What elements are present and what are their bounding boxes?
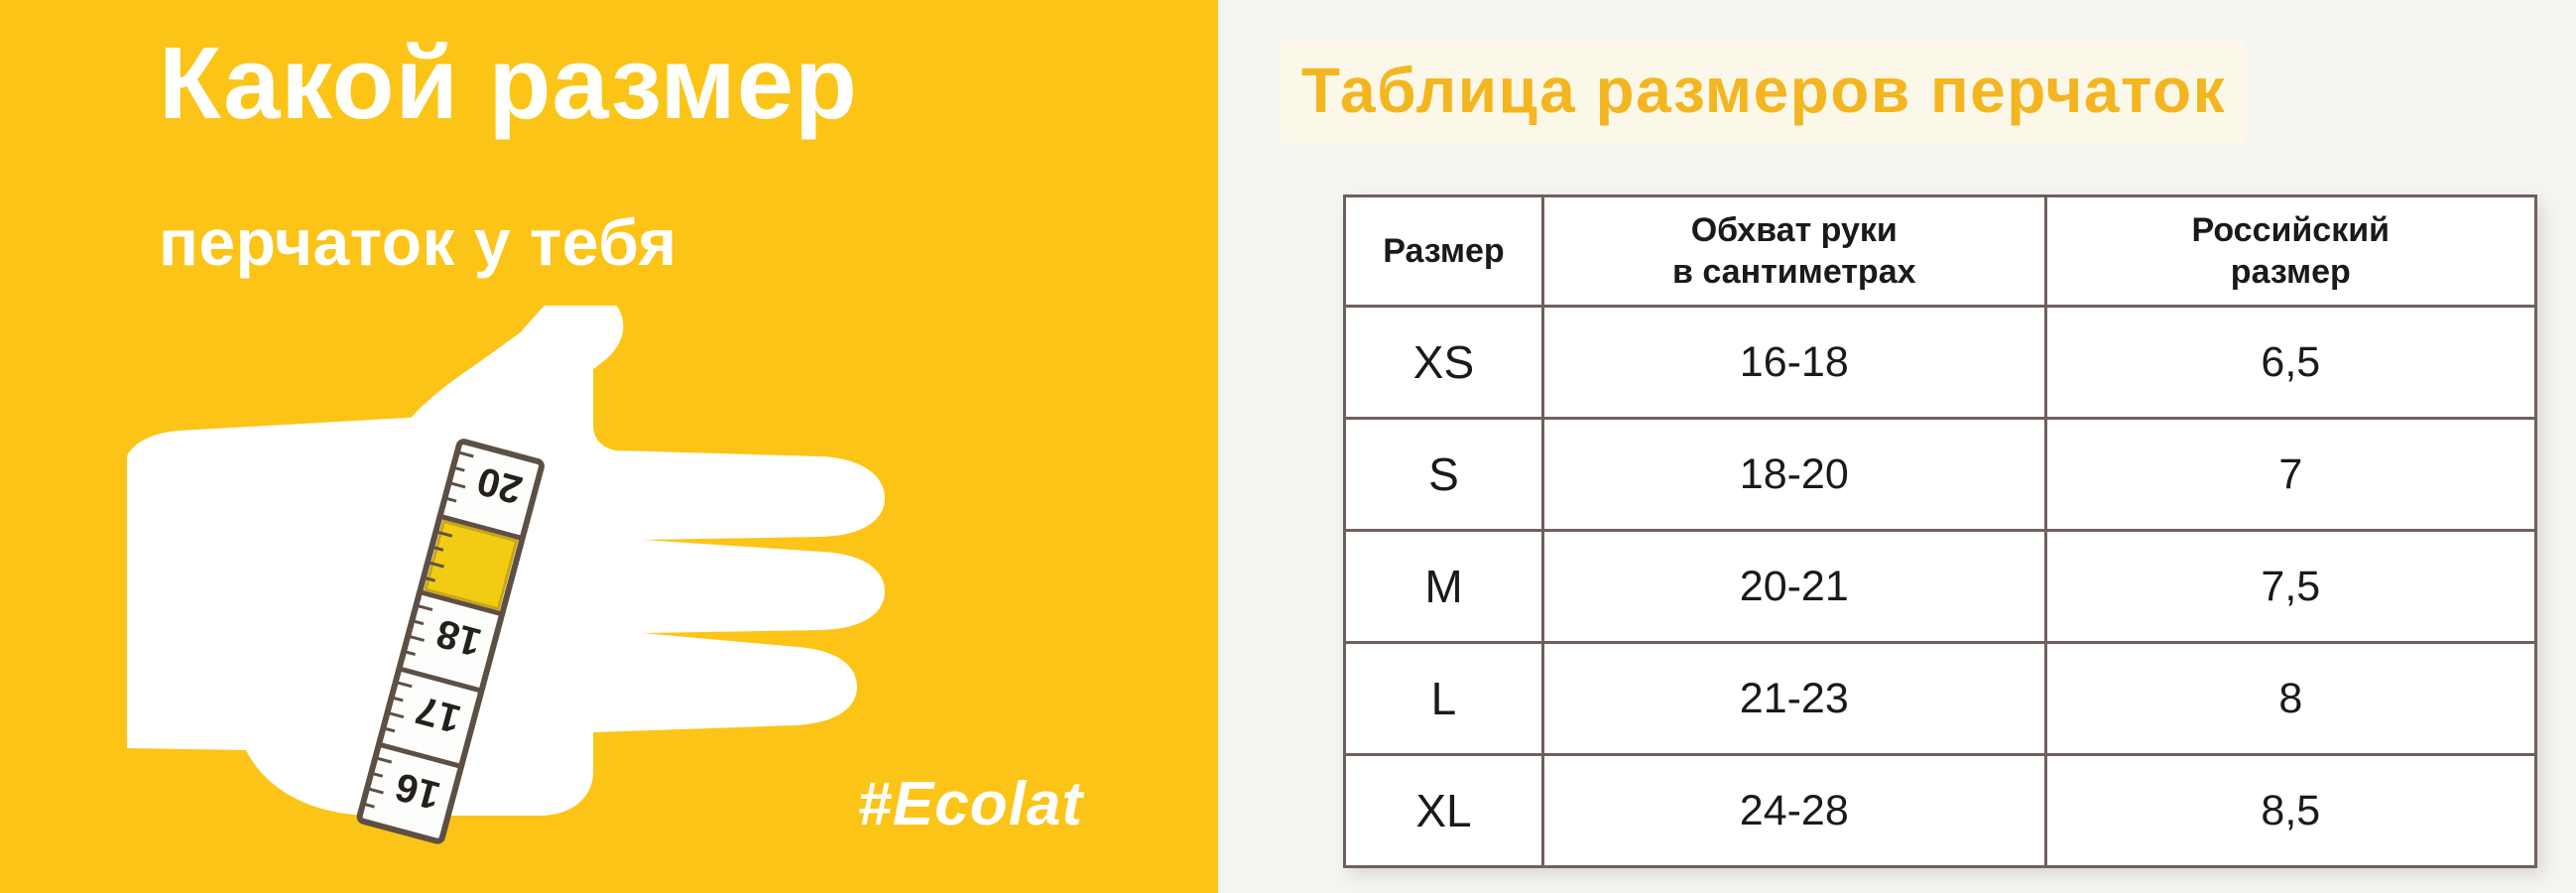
cell-circumference: 21-23 [1542,643,2045,755]
cell-ru-size: 7 [2045,419,2535,531]
right-table-panel: Таблица размеров перчаток Размер Обхват … [1218,0,2576,893]
cell-size: S [1345,419,1543,531]
cell-ru-size: 8,5 [2045,755,2535,867]
cell-size: XL [1345,755,1543,867]
cell-circumference: 20-21 [1542,531,2045,643]
left-yellow-panel: Какой размер перчаток у тебя [0,0,1218,893]
column-header-circumference: Обхват руки в сантиметрах [1542,196,2045,307]
cell-size: XS [1345,307,1543,419]
column-header-size: Размер [1345,196,1543,307]
table-header: Размер Обхват руки в сантиметрах Российс… [1345,196,2536,307]
cell-ru-size: 8 [2045,643,2535,755]
column-header-circumference-line1: Обхват руки [1544,209,2044,251]
page-title: Какой размер [159,28,1170,138]
cell-circumference: 24-28 [1542,755,2045,867]
cell-ru-size: 7,5 [2045,531,2535,643]
cell-ru-size: 6,5 [2045,307,2535,419]
column-header-size-line1: Размер [1346,230,1541,272]
column-header-ru-size-line2: размер [2047,251,2534,293]
page-subtitle: перчаток у тебя [159,206,1170,279]
table-row: L 21-23 8 [1345,643,2536,755]
table-title: Таблица размеров перчаток [1280,40,2248,145]
cell-size: L [1345,643,1543,755]
column-header-circumference-line2: в сантиметрах [1544,251,2044,293]
cell-circumference: 18-20 [1542,419,2045,531]
column-header-ru-size-line1: Российский [2047,209,2534,251]
brand-hashtag: #Ecolat [857,769,1083,839]
glove-size-table: Размер Обхват руки в сантиметрах Российс… [1343,194,2537,868]
table-header-row: Размер Обхват руки в сантиметрах Российс… [1345,196,2536,307]
table-row: S 18-20 7 [1345,419,2536,531]
hand-with-measuring-tape-icon: 20 18 17 16 [127,306,940,861]
table-row: M 20-21 7,5 [1345,531,2536,643]
table-body: XS 16-18 6,5 S 18-20 7 M 20-21 7,5 L 21-… [1345,307,2536,867]
glove-size-banner: Какой размер перчаток у тебя [0,0,2576,893]
table-row: XS 16-18 6,5 [1345,307,2536,419]
cell-size: M [1345,531,1543,643]
column-header-ru-size: Российский размер [2045,196,2535,307]
table-row: XL 24-28 8,5 [1345,755,2536,867]
cell-circumference: 16-18 [1542,307,2045,419]
